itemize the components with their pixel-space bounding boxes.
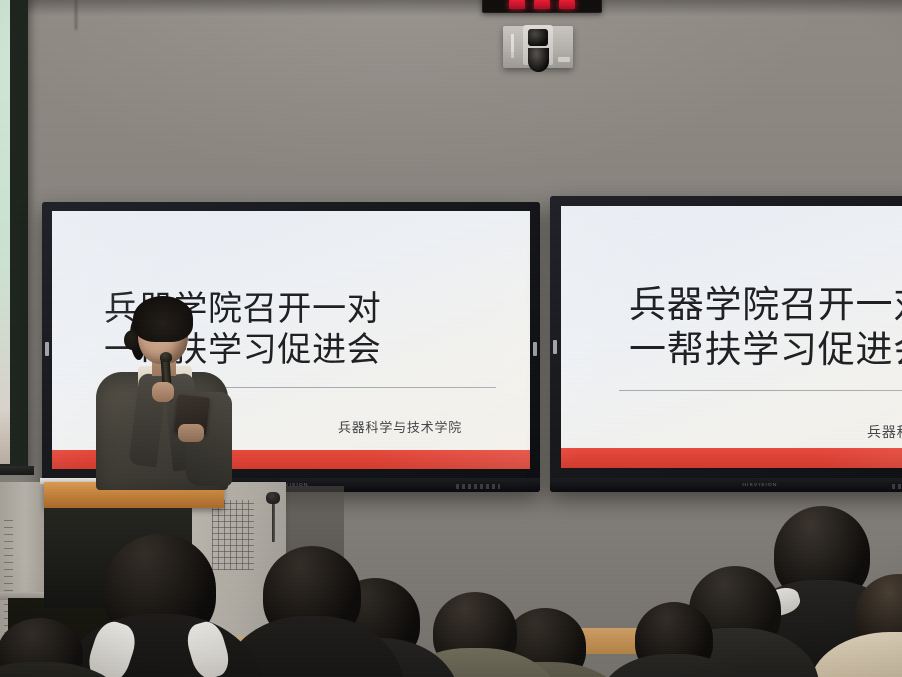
led-digit-2	[534, 0, 550, 9]
list-item	[232, 546, 392, 677]
right-slide-subtitle: 兵器科学与技术学院	[867, 422, 902, 442]
right-display-screen[interactable]: 兵器学院召开一对 一帮扶学习促进会 兵器科学与技术学院 HIKVISION	[550, 196, 902, 492]
led-digit-1	[509, 0, 525, 9]
ptz-camera	[503, 26, 573, 74]
right-slide-divider	[619, 390, 902, 391]
chalkboard-surface	[0, 0, 10, 464]
left-slide-subtitle: 兵器科学与技术学院	[338, 417, 462, 436]
led-clock-display	[482, 0, 602, 13]
right-display-brand: HIKVISION	[742, 482, 777, 487]
podium-mic-stand	[272, 498, 275, 542]
podium-mic-head-icon	[266, 492, 280, 504]
chalkboard-tray	[0, 466, 34, 475]
wall-chalkboard	[0, 0, 28, 468]
right-display-vent	[892, 484, 902, 489]
list-item	[604, 602, 744, 677]
right-slide-red-band	[561, 448, 902, 468]
left-display-side-sensor-right	[533, 342, 537, 356]
presenter-microphone-head-icon	[160, 352, 172, 362]
right-display-chin: HIKVISION	[550, 478, 902, 492]
right-display-panel: 兵器学院召开一对 一帮扶学习促进会 兵器科学与技术学院	[561, 206, 902, 468]
list-item	[0, 618, 110, 677]
left-display-vent	[456, 484, 500, 489]
right-slide-title: 兵器学院召开一对 一帮扶学习促进会	[629, 282, 902, 372]
lecture-hall-photo: 兵器学院召开一对 一帮扶学习促进会 兵器科学与技术学院 HIKVISION 兵器…	[0, 0, 902, 677]
right-slide: 兵器学院召开一对 一帮扶学习促进会 兵器科学与技术学院	[561, 206, 902, 468]
presenter-hand-right	[178, 424, 204, 442]
left-display-side-sensor	[45, 342, 49, 356]
camera-lens-icon	[528, 29, 548, 46]
ceiling-shadow	[0, 0, 902, 16]
camera-dome-icon	[528, 48, 549, 72]
list-item	[818, 574, 902, 677]
right-display-side-sensor	[553, 340, 557, 354]
led-digit-3	[559, 0, 575, 9]
presenter-hair	[133, 296, 193, 342]
wall-seam	[75, 0, 77, 30]
camera-label	[558, 57, 570, 62]
presenter-hand-left	[152, 382, 174, 402]
